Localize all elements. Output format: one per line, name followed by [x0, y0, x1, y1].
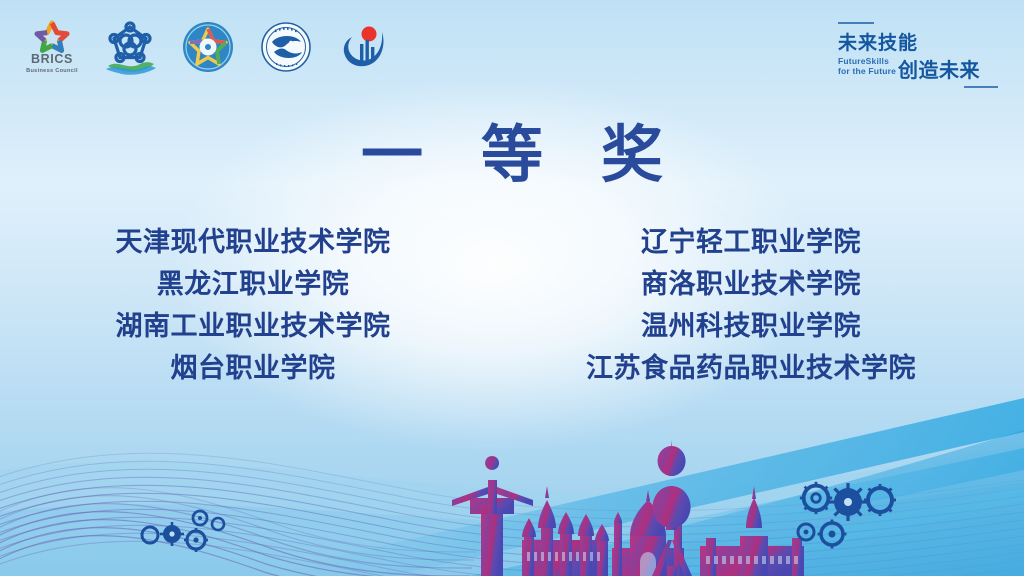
brand-english-line-2: for the Future — [838, 66, 896, 76]
winner-item: 温州科技职业学院 — [641, 312, 861, 340]
gear-cluster-right — [798, 482, 896, 549]
brand-rule-top — [838, 22, 874, 24]
brand-rule-bottom — [964, 86, 998, 88]
winner-item: 天津现代职业技术学院 — [116, 228, 391, 256]
partner-logo-strip: BRICS Business Council — [24, 18, 392, 76]
brand-chinese-line-2: 创造未来 — [898, 54, 980, 83]
brand-english-line-1: FutureSkills — [838, 56, 896, 66]
brics-logo-subtext: Business Council — [26, 68, 78, 74]
brics-skills-pentagon-logo — [102, 18, 158, 76]
winners-list: 天津现代职业技术学院 黑龙江职业学院 湖南工业职业技术学院 烟台职业学院 辽宁轻… — [0, 228, 1024, 382]
brics-landmarks-skyline — [452, 440, 804, 576]
gear-cluster-left — [142, 511, 224, 552]
award-slide: BRICS Business Council — [0, 0, 1024, 576]
winner-item: 江苏食品药品职业技术学院 — [586, 354, 916, 382]
winner-item: 辽宁轻工职业学院 — [641, 228, 861, 256]
winner-item: 湖南工业职业技术学院 — [116, 312, 391, 340]
winners-column-right: 辽宁轻工职业学院 商洛职业技术学院 温州科技职业学院 江苏食品药品职业技术学院 — [551, 228, 951, 382]
winner-item: 黑龙江职业学院 — [157, 270, 350, 298]
winners-column-left: 天津现代职业技术学院 黑龙江职业学院 湖南工业职业技术学院 烟台职业学院 — [73, 228, 433, 382]
brics-logo-wordmark: BRICS — [31, 52, 73, 66]
winner-item: 烟台职业学院 — [171, 354, 336, 382]
brand-chinese-line-1: 未来技能 — [838, 28, 918, 55]
blue-swoosh-sun-logo — [336, 18, 392, 76]
university-seal-logo — [258, 18, 314, 76]
winner-item: 商洛职业技术学院 — [641, 270, 861, 298]
futureskills-brand-lockup: 未来技能 FutureSkills for the Future 创造未来 — [826, 18, 998, 90]
brand-english-tagline: FutureSkills for the Future — [838, 56, 896, 76]
page-title: 一等奖 — [0, 104, 1024, 194]
star-badge-circular-logo — [180, 18, 236, 76]
brics-business-council-logo: BRICS Business Council — [24, 18, 80, 76]
